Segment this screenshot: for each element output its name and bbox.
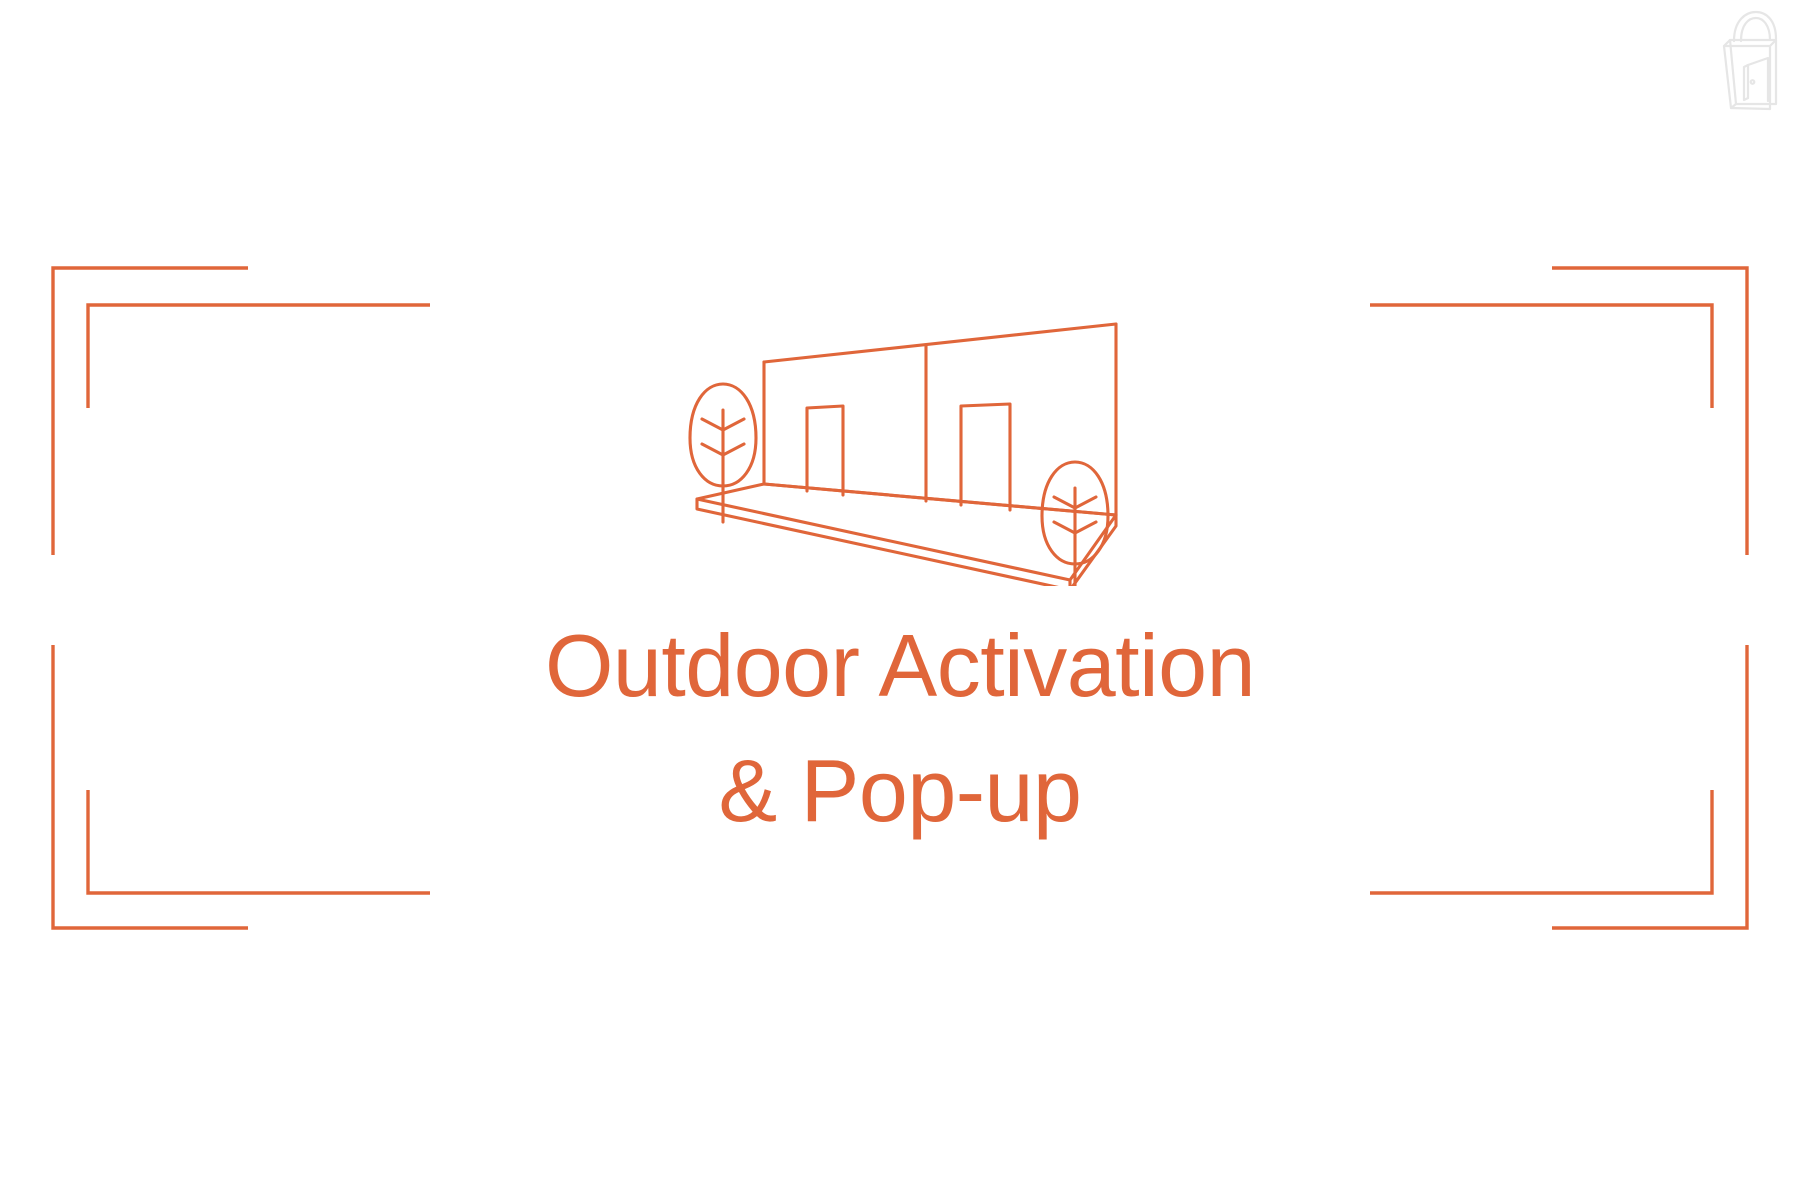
page-title-line-2: & Pop-up	[545, 729, 1255, 854]
slide-canvas: Outdoor Activation & Pop-up	[0, 0, 1800, 1200]
walkway-top-face	[697, 484, 1116, 580]
tree-left-branch-2	[723, 419, 744, 430]
outdoor-storefront-illustration	[650, 318, 1150, 586]
tree-left-branch-1	[702, 419, 723, 430]
tree-left	[690, 384, 756, 522]
tree-right	[1042, 462, 1108, 586]
wall-top-edge	[764, 324, 1116, 362]
tree-left-branch-3	[702, 444, 723, 455]
doorway-right	[961, 404, 1010, 510]
brand-logo	[1706, 8, 1792, 112]
tree-right-branch-4	[1075, 522, 1096, 533]
shopping-bag-with-door-icon	[1706, 8, 1792, 112]
hero-content: Outdoor Activation & Pop-up	[0, 318, 1800, 854]
tree-right-branch-2	[1075, 497, 1096, 508]
tree-left-branch-4	[723, 444, 744, 455]
doorway-left	[807, 406, 843, 495]
page-title: Outdoor Activation & Pop-up	[545, 604, 1255, 854]
tree-right-branch-3	[1054, 522, 1075, 533]
tree-right-branch-1	[1054, 497, 1075, 508]
storefront-scene-svg	[650, 318, 1150, 586]
page-title-line-1: Outdoor Activation	[545, 604, 1255, 729]
